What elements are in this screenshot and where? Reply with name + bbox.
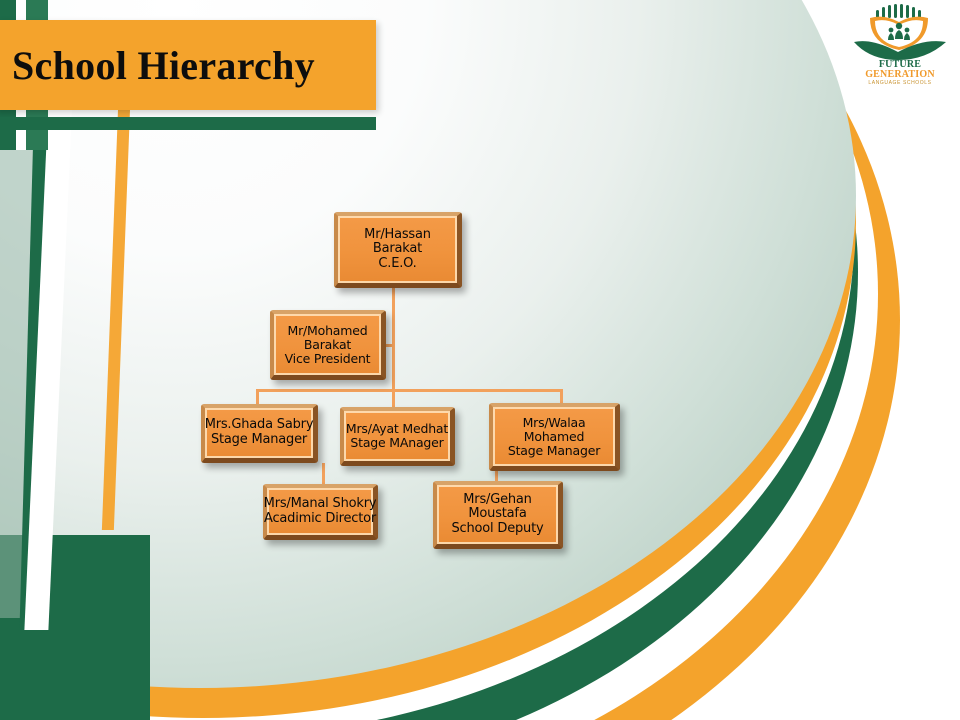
org-node-ceo-inner: Mr/Hassan Barakat C.E.O. [338, 216, 457, 283]
org-node-ceo-line-1: Mr/Hassan [364, 228, 431, 243]
org-node-stage-manager-ayat[interactable]: Mrs/Ayat Medhat Stage MAnager [340, 407, 455, 466]
org-node-stage-manager-walaa-line-2: Mohamed [524, 430, 584, 444]
connector-ayat-drop [392, 389, 395, 407]
org-node-school-deputy-inner: Mrs/Gehan Moustafa School Deputy [437, 485, 558, 544]
org-node-school-deputy-line-1: Mrs/Gehan [463, 493, 531, 508]
org-node-ceo-line-2: Barakat [373, 242, 422, 257]
connector-level2-bus [256, 389, 563, 392]
org-node-vice-president-line-2: Barakat [304, 338, 351, 352]
org-node-stage-manager-walaa-line-1: Mrs/Walaa [523, 416, 586, 430]
org-node-stage-manager-ayat-inner: Mrs/Ayat Medhat Stage MAnager [344, 411, 450, 461]
connector-walaa-drop [560, 389, 563, 404]
org-node-stage-manager-ayat-line-1: Mrs/Ayat Medhat [346, 422, 448, 436]
org-node-school-deputy-line-3: School Deputy [452, 522, 544, 537]
org-chart: Mr/Hassan Barakat C.E.O. Mr/Mohamed Bara… [0, 0, 960, 720]
org-node-stage-manager-ghada-line-1: Mrs.Ghada Sabry [205, 418, 314, 433]
org-node-stage-manager-ghada-inner: Mrs.Ghada Sabry Stage Manager [205, 408, 313, 458]
org-node-stage-manager-walaa[interactable]: Mrs/Walaa Mohamed Stage Manager [489, 403, 620, 471]
slide-canvas: School Hierarchy [0, 0, 960, 720]
org-node-stage-manager-ayat-line-2: Stage MAnager [350, 436, 443, 450]
connector-academic-director-drop [322, 463, 325, 486]
org-node-vice-president-line-1: Mr/Mohamed [288, 324, 368, 338]
org-node-vice-president-inner: Mr/Mohamed Barakat Vice President [274, 314, 381, 375]
org-node-stage-manager-walaa-line-3: Stage Manager [508, 444, 600, 458]
org-node-ceo-line-3: C.E.O. [378, 257, 416, 272]
org-node-stage-manager-walaa-inner: Mrs/Walaa Mohamed Stage Manager [493, 407, 615, 466]
org-node-stage-manager-ghada[interactable]: Mrs.Ghada Sabry Stage Manager [201, 404, 318, 463]
org-node-academic-director-line-1: Mrs/Manal Shokry [264, 497, 377, 512]
org-node-academic-director[interactable]: Mrs/Manal Shokry Acadimic Director [263, 484, 378, 540]
connector-ceo-drop [392, 288, 395, 392]
org-node-school-deputy[interactable]: Mrs/Gehan Moustafa School Deputy [433, 481, 563, 549]
org-node-school-deputy-line-2: Moustafa [468, 507, 526, 522]
org-node-vice-president[interactable]: Mr/Mohamed Barakat Vice President [270, 310, 386, 380]
org-node-stage-manager-ghada-line-2: Stage Manager [211, 433, 307, 448]
org-node-ceo[interactable]: Mr/Hassan Barakat C.E.O. [334, 212, 462, 288]
org-node-vice-president-line-3: Vice President [285, 352, 371, 366]
org-node-academic-director-inner: Mrs/Manal Shokry Acadimic Director [267, 488, 373, 535]
org-node-academic-director-line-2: Acadimic Director [264, 512, 376, 527]
